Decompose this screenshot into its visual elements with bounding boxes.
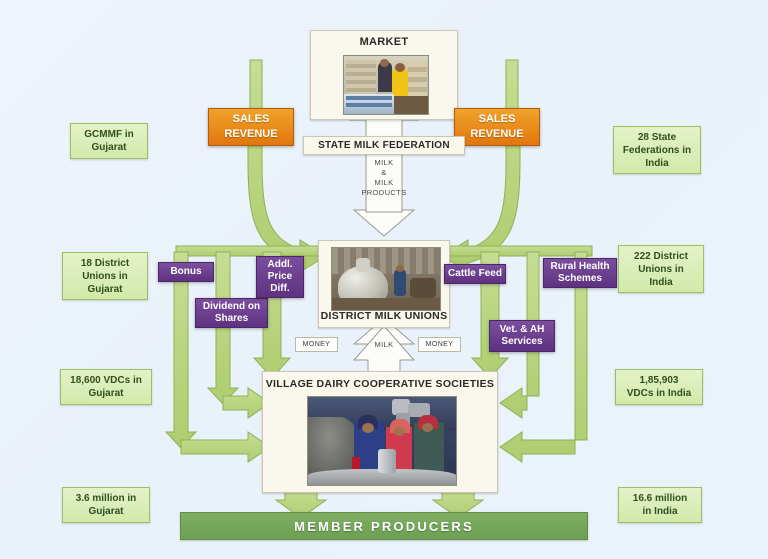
state-milk-federation-panel: STATE MILK FEDERATION (303, 136, 465, 155)
village-dairy-photo (307, 396, 457, 486)
addl-price-line3: Diff. (268, 283, 293, 295)
addl-price-line2: Price (268, 271, 293, 283)
addl-price-diff-box: Addl. Price Diff. (256, 256, 304, 298)
stat-district-unions-india-line1: 222 District (634, 250, 688, 263)
rural-health-schemes-box: Rural Health Schemes (543, 258, 617, 288)
money-left-tag: MONEY (295, 337, 338, 352)
member-producers-bar: MEMBER PRODUCERS (180, 512, 588, 540)
milk-products-line1: MILK (349, 158, 419, 168)
milk-products-line4: PRODUCTS (349, 188, 419, 198)
milk-text: MILK (374, 340, 393, 349)
stat-district-unions-gujarat-line2: Unions in (81, 270, 129, 283)
stat-gcmmf-gujarat-line2: Gujarat (84, 141, 133, 154)
stat-gcmmf-gujarat: GCMMF in Gujarat (70, 123, 148, 159)
stat-vdcs-india-line2: VDCs in India (627, 387, 691, 400)
rail-left-top (176, 246, 320, 256)
stat-producers-india-line1: 16.6 million (633, 492, 687, 505)
stat-district-unions-india-line3: India (634, 276, 688, 289)
cattle-feed-label: Cattle Feed (448, 268, 502, 280)
sales-revenue-left-line1: SALES (224, 112, 277, 127)
money-left-text: MONEY (303, 341, 331, 348)
stat-vdcs-gujarat-line1: 18,600 VDCs in (70, 374, 142, 387)
milk-products-line3: MILK (349, 178, 419, 188)
stat-producers-gujarat: 3.6 million in Gujarat (62, 487, 150, 523)
stat-vdcs-india: 1,85,903 VDCs in India (615, 369, 703, 405)
stat-state-federations-india-line2: Federations in (623, 144, 691, 157)
stat-state-federations-india: 28 State Federations in India (613, 126, 701, 174)
sales-revenue-right-box: SALES REVENUE (454, 108, 540, 146)
stat-vdcs-gujarat-line2: Gujarat (70, 387, 142, 400)
village-dairy-title: VILLAGE DAIRY COOPERATIVE SOCIETIES (263, 378, 497, 390)
stat-district-unions-india: 222 District Unions in India (618, 245, 704, 293)
dividend-line1: Dividend on (203, 301, 260, 313)
market-title: MARKET (311, 36, 457, 48)
sales-revenue-right-line1: SALES (470, 112, 523, 127)
cattle-feed-box: Cattle Feed (444, 264, 506, 284)
stat-gcmmf-gujarat-line1: GCMMF in (84, 128, 133, 141)
stat-vdcs-gujarat: 18,600 VDCs in Gujarat (60, 369, 152, 405)
member-producers-title: MEMBER PRODUCERS (294, 519, 474, 534)
stat-district-unions-gujarat: 18 District Unions in Gujarat (62, 252, 148, 300)
dividend-on-shares-box: Dividend on Shares (195, 298, 268, 328)
sales-revenue-right-line2: REVENUE (470, 127, 523, 142)
district-milk-unions-photo (331, 247, 441, 311)
milk-products-line2: & (349, 168, 419, 178)
district-milk-unions-panel: DISTRICT MILK UNIONS (318, 240, 450, 328)
money-right-tag: MONEY (418, 337, 461, 352)
bonus-label: Bonus (170, 266, 201, 278)
arrow-left-into-vdcs-upper (181, 432, 270, 462)
stat-producers-gujarat-line2: Gujarat (76, 505, 137, 518)
stat-producers-gujarat-line1: 3.6 million in (76, 492, 137, 505)
stat-district-unions-gujarat-line1: 18 District (81, 257, 129, 270)
vet-ah-line2: Services (500, 336, 545, 348)
dividend-line2: Shares (203, 313, 260, 325)
rural-health-line1: Rural Health (551, 261, 610, 273)
bonus-box: Bonus (158, 262, 214, 282)
stat-district-unions-gujarat-line3: Gujarat (81, 283, 129, 296)
stat-producers-india: 16.6 million in India (618, 487, 702, 523)
market-panel: MARKET (310, 30, 458, 120)
state-milk-federation-title: STATE MILK FEDERATION (318, 140, 450, 151)
milk-label: MILK (359, 340, 409, 350)
addl-price-line1: Addl. (268, 259, 293, 271)
stat-vdcs-india-line1: 1,85,903 (627, 374, 691, 387)
stat-district-unions-india-line2: Unions in (634, 263, 688, 276)
money-right-text: MONEY (426, 341, 454, 348)
stat-producers-india-line2: in India (633, 505, 687, 518)
rail-right-top (448, 246, 592, 256)
sales-revenue-left-box: SALES REVENUE (208, 108, 294, 146)
stat-state-federations-india-line1: 28 State (623, 131, 691, 144)
district-milk-unions-title: DISTRICT MILK UNIONS (319, 310, 449, 322)
dairy-structure-diagram: MARKET SALES REVENUE SALES REVENUE STAT (0, 0, 768, 559)
stat-state-federations-india-line3: India (623, 157, 691, 170)
vet-ah-line1: Vet. & AH (500, 324, 545, 336)
milk-and-milk-products-label: MILK & MILK PRODUCTS (349, 158, 419, 198)
village-dairy-panel: VILLAGE DAIRY COOPERATIVE SOCIETIES (262, 371, 498, 493)
market-photo (343, 55, 429, 115)
sales-revenue-left-line2: REVENUE (224, 127, 277, 142)
vet-ah-services-box: Vet. & AH Services (489, 320, 555, 352)
rural-health-line2: Schemes (551, 273, 610, 285)
